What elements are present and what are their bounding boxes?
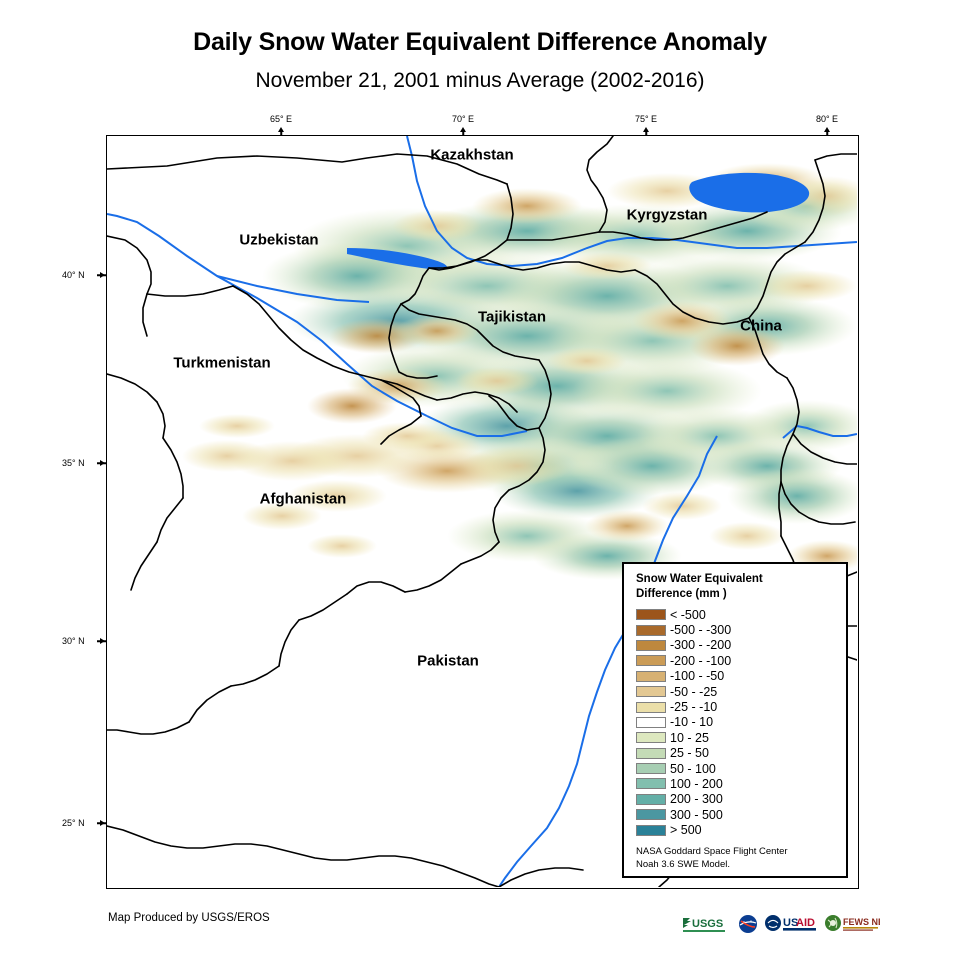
lat-tick-35n [100, 460, 105, 466]
svg-text:USGS: USGS [692, 918, 723, 930]
legend-label: 200 - 300 [670, 792, 723, 806]
legend-row: 50 - 100 [636, 761, 836, 776]
legend-swatch [636, 732, 666, 743]
legend-row: -500 - -300 [636, 622, 836, 637]
legend-label: > 500 [670, 823, 702, 837]
legend-swatch [636, 809, 666, 820]
legend-swatch [636, 609, 666, 620]
legend-row: > 500 [636, 822, 836, 837]
page-subtitle: November 21, 2001 minus Average (2002-20… [0, 69, 960, 93]
legend-label: 25 - 50 [670, 746, 709, 760]
legend-row: 200 - 300 [636, 792, 836, 807]
lat-label-25n: 25° N [62, 818, 85, 828]
legend-row: -25 - -10 [636, 699, 836, 714]
legend-row: 25 - 50 [636, 746, 836, 761]
legend-swatch [636, 763, 666, 774]
legend-label: -500 - -300 [670, 623, 731, 637]
legend-label: 100 - 200 [670, 777, 723, 791]
map-credit: Map Produced by USGS/EROS [108, 912, 270, 924]
lon-label-65e: 65° E [270, 114, 292, 124]
legend-label: -25 - -10 [670, 700, 717, 714]
lon-label-70e: 70° E [452, 114, 474, 124]
legend-row: -200 - -100 [636, 653, 836, 668]
legend-row: 100 - 200 [636, 776, 836, 791]
legend-label: 10 - 25 [670, 731, 709, 745]
agency-logos: USGS US AID FEWS NET [682, 913, 880, 935]
legend-row: 10 - 25 [636, 730, 836, 745]
nasa-logo [738, 914, 758, 934]
legend-row: < -500 [636, 607, 836, 622]
legend-row: -50 - -25 [636, 684, 836, 699]
legend-swatch [636, 794, 666, 805]
lon-label-75e: 75° E [635, 114, 657, 124]
legend-swatch [636, 702, 666, 713]
lat-label-40n: 40° N [62, 270, 85, 280]
page-title: Daily Snow Water Equivalent Difference A… [0, 28, 960, 57]
legend-swatch [636, 717, 666, 728]
lat-tick-40n [100, 272, 105, 278]
lat-label-35n: 35° N [62, 458, 85, 468]
svg-text:FEWS NET: FEWS NET [843, 917, 880, 927]
legend-row: -100 - -50 [636, 669, 836, 684]
legend-swatch [636, 640, 666, 651]
legend-swatch [636, 748, 666, 759]
legend-label: 300 - 500 [670, 808, 723, 822]
legend-label: < -500 [670, 608, 706, 622]
legend-source-note: NASA Goddard Space Flight Center Noah 3.… [636, 845, 836, 871]
legend-row: 300 - 500 [636, 807, 836, 822]
legend-label: -10 - 10 [670, 715, 713, 729]
legend-swatch [636, 825, 666, 836]
fewsnet-logo: FEWS NET [824, 914, 880, 934]
legend-row: -10 - 10 [636, 715, 836, 730]
map-legend: Snow Water Equivalent Difference (mm ) <… [622, 562, 848, 878]
legend-label: -100 - -50 [670, 669, 724, 683]
legend-swatch [636, 655, 666, 666]
usgs-logo: USGS [682, 914, 732, 934]
legend-swatch [636, 671, 666, 682]
lon-label-80e: 80° E [816, 114, 838, 124]
legend-label: 50 - 100 [670, 762, 716, 776]
lat-tick-30n [100, 638, 105, 644]
usaid-logo: US AID [764, 914, 818, 934]
legend-title: Snow Water Equivalent Difference (mm ) [636, 572, 836, 602]
legend-swatch [636, 686, 666, 697]
lat-label-30n: 30° N [62, 636, 85, 646]
legend-label: -50 - -25 [670, 685, 717, 699]
legend-label: -200 - -100 [670, 654, 731, 668]
legend-row: -300 - -200 [636, 638, 836, 653]
legend-label: -300 - -200 [670, 638, 731, 652]
legend-swatch [636, 778, 666, 789]
legend-swatch [636, 625, 666, 636]
lat-tick-25n [100, 820, 105, 826]
svg-text:AID: AID [796, 917, 815, 929]
